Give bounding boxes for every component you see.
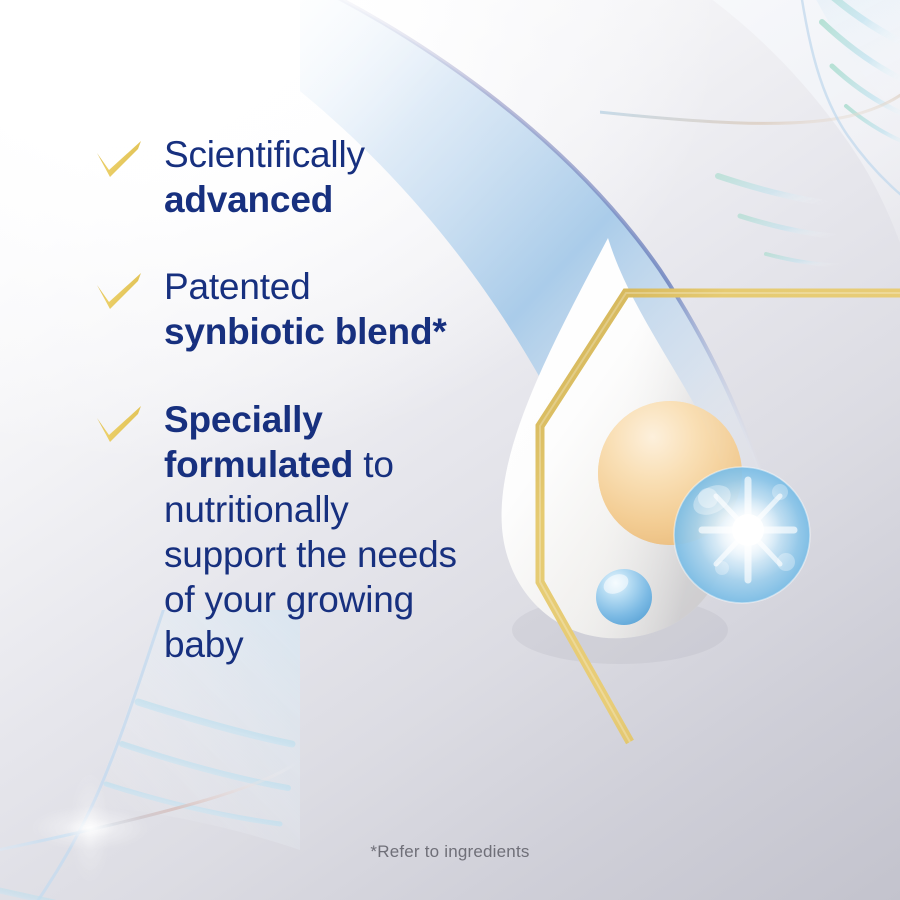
check-icon: [96, 140, 142, 178]
list-item-label: Patented synbiotic blend*: [164, 264, 476, 354]
check-icon: [96, 405, 142, 443]
blue-sphere-large: [674, 467, 810, 603]
bullet-2-bold: Specially formulated: [164, 399, 353, 485]
check-icon: [96, 272, 142, 310]
bullet-0-line1: Scientifically: [164, 134, 365, 175]
list-item: Patented synbiotic blend*: [96, 264, 476, 354]
list-item: Specially formulated to nutritionally su…: [96, 397, 476, 668]
orange-sphere: [598, 401, 742, 545]
teardrop-shape: [502, 238, 730, 638]
benefit-list: Scientifically advanced Patented synbiot…: [96, 132, 476, 667]
orange-sphere-outer: [598, 401, 742, 545]
bullet-0-line2: advanced: [164, 179, 333, 220]
blue-sphere-small: [596, 569, 652, 625]
list-item: Scientifically advanced: [96, 132, 476, 222]
bullet-1-line2: synbiotic blend*: [164, 311, 447, 352]
dna-ribbon-top-right: [600, 0, 900, 270]
list-item-label: Scientifically advanced: [164, 132, 476, 222]
footnote: *Refer to ingredients: [0, 842, 900, 862]
list-item-label: Specially formulated to nutritionally su…: [164, 397, 476, 668]
gold-bracket-frame: [540, 293, 900, 742]
promo-panel: Scientifically advanced Patented synbiot…: [0, 0, 900, 900]
droplet-artwork: [480, 230, 900, 750]
bullet-1-line1: Patented: [164, 266, 311, 307]
